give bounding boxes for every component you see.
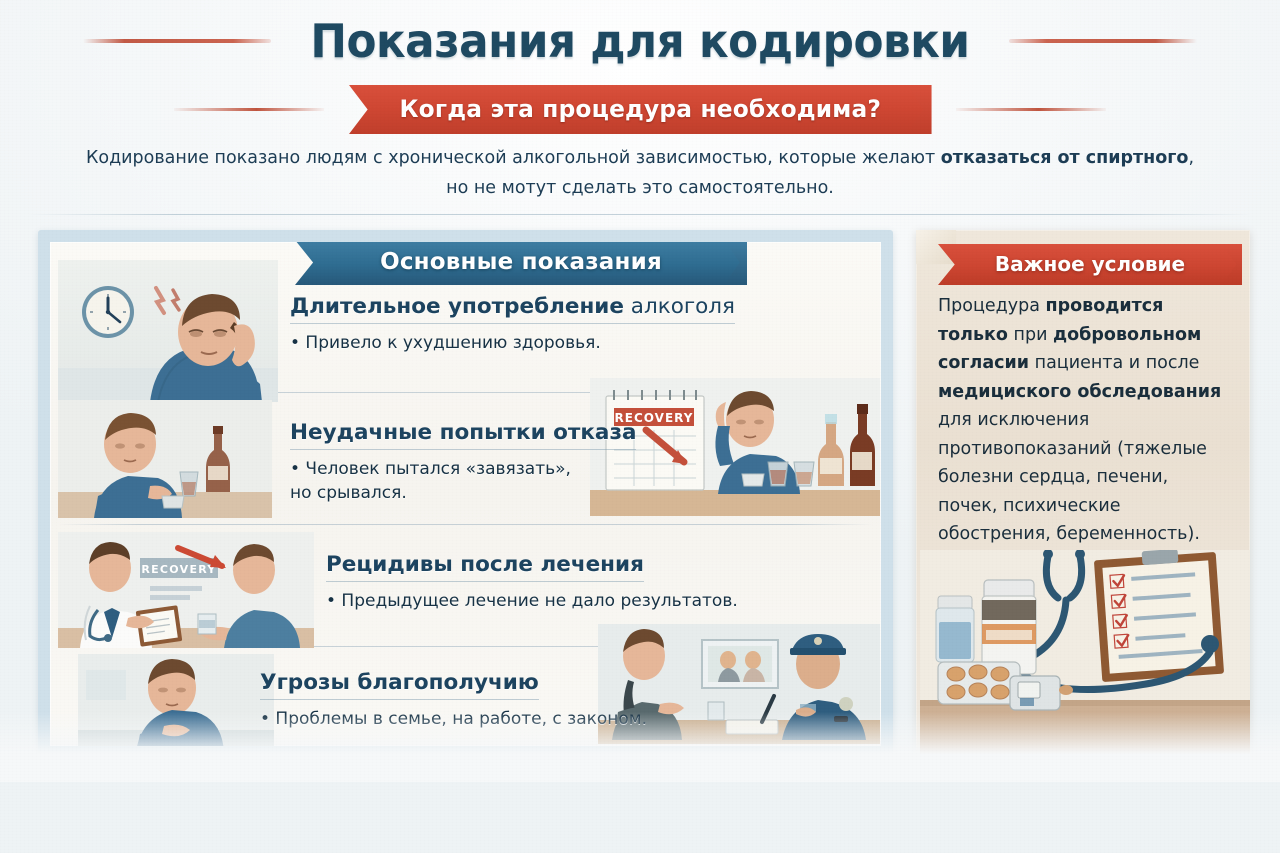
condition-seg-0: Процедура: [938, 296, 1046, 316]
illustration-doctor-and-patient: RECOVERY: [58, 532, 314, 648]
banner-row: Когда эта процедура необходима?: [0, 85, 1280, 134]
indication-item-3-description: • Предыдущее лечение не дало результатов…: [326, 589, 738, 613]
main-indications-ribbon: Основные показания: [295, 242, 747, 285]
title-rule-right: [1009, 39, 1197, 43]
important-condition-text: Процедура проводится только при добровол…: [938, 292, 1232, 549]
condition-seg-2: при: [1008, 325, 1053, 345]
svg-text:RECOVERY: RECOVERY: [141, 563, 216, 576]
main-indications-inner: Длительное употребление алкоголя • Приве…: [50, 242, 881, 746]
content-area: Длительное употребление алкоголя • Приве…: [0, 222, 1280, 782]
intro-text-bold: отказаться от спиртного: [941, 148, 1189, 168]
important-condition-ribbon: Важное условие: [938, 244, 1242, 285]
title-rule-left: [83, 39, 271, 43]
question-banner: Когда эта процедура необходима?: [349, 85, 932, 134]
title-row: Показания для кодировки: [0, 14, 1280, 68]
condition-seg-4: пациента и после: [1029, 353, 1199, 373]
indication-item-3-title-bold: Рецидивы после лечения: [326, 552, 644, 577]
condition-seg-6: для исключения противопоказаний (тяжелые…: [938, 410, 1207, 544]
indication-item-1-text: Длительное употребление алкоголя • Приве…: [290, 294, 735, 355]
condition-seg-5: медициского обследования: [938, 382, 1221, 402]
illustration-man-slumped-at-table: [58, 400, 272, 518]
indication-item-3-title: Рецидивы после лечения: [326, 552, 644, 582]
header-divider: [28, 214, 1252, 215]
indication-item-4-title: Угрозы благополучию: [260, 670, 539, 700]
indication-item-2-title-bold: Неудачные попытки отказа: [290, 420, 636, 445]
indication-item-4-title-bold: Угрозы благополучию: [260, 670, 539, 695]
important-condition-card: Важное условие Процедура проводится толь…: [916, 230, 1250, 758]
indication-item-2-title: Неудачные попытки отказа: [290, 420, 636, 450]
banner-rule-left: [174, 108, 324, 111]
main-indications-card: Длительное употребление алкоголя • Приве…: [38, 230, 893, 758]
illustration-tired-man-with-clock: [58, 260, 278, 402]
intro-paragraph: Кодирование показано людям с хронической…: [75, 143, 1205, 203]
indication-item-2-description: • Человек пытался «завязать», но срывалс…: [290, 457, 636, 505]
bottom-fade: [0, 712, 1280, 782]
page-header: Показания для кодировки Когда эта процед…: [0, 0, 1280, 218]
banner-rule-right: [956, 108, 1106, 111]
indication-item-3-text: Рецидивы после лечения • Предыдущее лече…: [326, 552, 738, 613]
indication-item-1-title-regular: алкоголя: [624, 294, 735, 319]
indication-item-2-text: Неудачные попытки отказа • Человек пытал…: [290, 420, 636, 505]
indication-item-1-title: Длительное употребление алкоголя: [290, 294, 735, 324]
row-separator-2: [58, 524, 873, 525]
page-title: Показания для кодировки: [310, 14, 969, 68]
indication-item-1-description: • Привело к ухудшению здоровья.: [290, 331, 735, 355]
indication-item-1-title-bold: Длительное употребление: [290, 294, 624, 319]
intro-text-start: Кодирование показано людям с хронической…: [86, 148, 941, 168]
